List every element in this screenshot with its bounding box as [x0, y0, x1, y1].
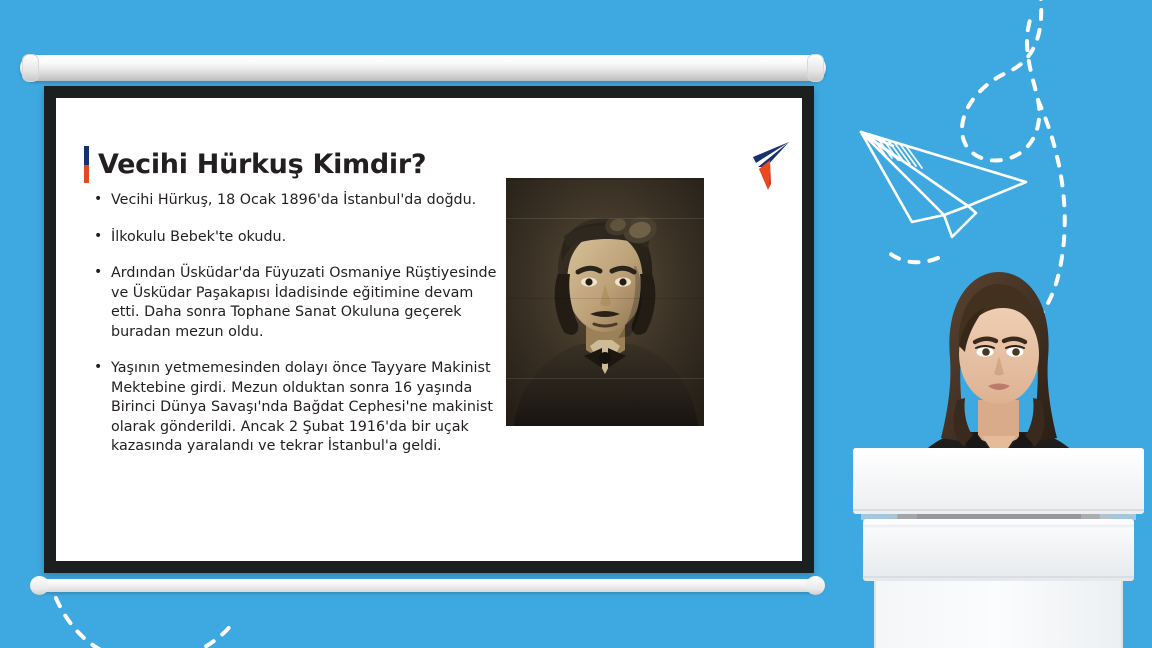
- bottom-cap-left: [30, 576, 49, 595]
- list-item: Yaşının yetmemesinden dolayı önce Tayyar…: [92, 359, 502, 457]
- roller-cap-left: [22, 54, 39, 82]
- paper-airplane-icon: [848, 98, 1038, 248]
- roller-cap-right: [807, 54, 824, 82]
- list-item: Vecihi Hürkuş, 18 Ocak 1896'da İstanbul'…: [92, 191, 502, 211]
- lecture-video-frame: Vecihi Hürkuş Kimdir?: [0, 0, 1152, 648]
- screen-roller-bar: [20, 55, 826, 81]
- list-item: İlkokulu Bebek'te okudu.: [92, 228, 502, 248]
- bottom-cap-right: [806, 576, 825, 595]
- projection-screen: Vecihi Hürkuş Kimdir?: [20, 55, 826, 595]
- page-title: Vecihi Hürkuş Kimdir?: [98, 149, 426, 180]
- podium: [845, 440, 1152, 648]
- presentation-slide: Vecihi Hürkuş Kimdir?: [56, 98, 802, 561]
- title-accent-bar: [84, 146, 89, 183]
- screen-bottom-bar: [34, 579, 824, 592]
- vecihi-hurkus-portrait: [506, 178, 704, 426]
- airplane-tail-logo-icon: [744, 140, 792, 192]
- slide-title-row: Vecihi Hürkuş Kimdir?: [84, 146, 426, 183]
- list-item: Ardından Üsküdar'da Füyuzati Osmaniye Rü…: [92, 264, 502, 342]
- slide-bullet-list: Vecihi Hürkuş, 18 Ocak 1896'da İstanbul'…: [92, 191, 502, 457]
- presenter-area: [845, 250, 1152, 648]
- screen-frame: Vecihi Hürkuş Kimdir?: [44, 86, 814, 573]
